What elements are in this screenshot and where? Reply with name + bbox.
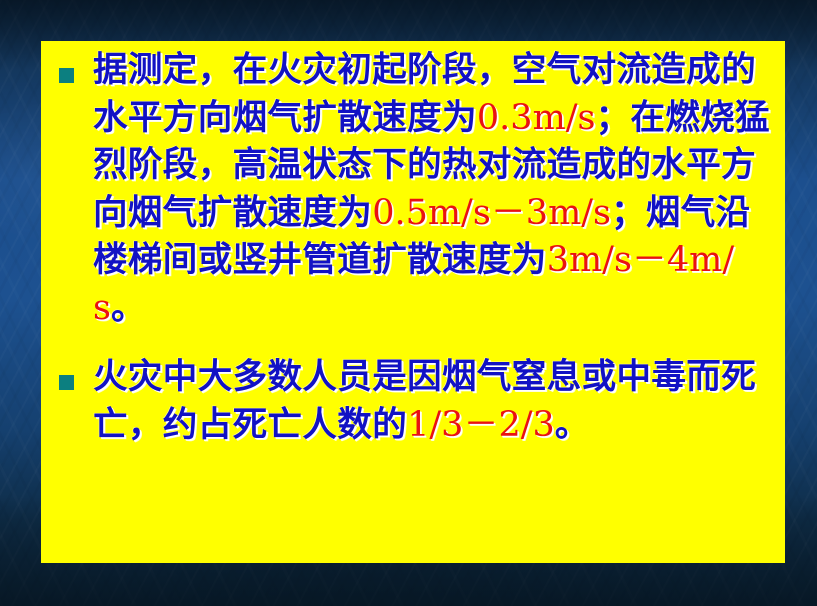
- presentation-slide: 据测定，在火灾初起阶段，空气对流造成的水平方向烟气扩散速度为0.3m/s；在燃烧…: [0, 0, 817, 606]
- bullet-1-text: 据测定，在火灾初起阶段，空气对流造成的水平方向烟气扩散速度为0.3m/s；在燃烧…: [93, 47, 777, 332]
- bullet-1-seg-1: 0.3m/s: [477, 98, 596, 138]
- bullet-2-seg-1: 1/3－2/3: [407, 405, 555, 445]
- bullet-item-1: 据测定，在火灾初起阶段，空气对流造成的水平方向烟气扩散速度为0.3m/s；在燃烧…: [49, 47, 777, 332]
- bullet-1-seg-6: 。: [111, 288, 146, 328]
- bullet-1-seg-3: 0.5m/s－3m/s: [372, 193, 611, 233]
- bullet-item-2: 火灾中大多数人员是因烟气窒息或中毒而死亡，约占死亡人数的1/3－2/3。: [49, 354, 777, 449]
- yellow-content-panel: 据测定，在火灾初起阶段，空气对流造成的水平方向烟气扩散速度为0.3m/s；在燃烧…: [41, 41, 785, 563]
- bullet-2-seg-2: 。: [555, 405, 590, 445]
- square-bullet-icon: [59, 375, 74, 390]
- bullet-2-text: 火灾中大多数人员是因烟气窒息或中毒而死亡，约占死亡人数的1/3－2/3。: [93, 354, 777, 449]
- square-bullet-icon: [59, 68, 74, 83]
